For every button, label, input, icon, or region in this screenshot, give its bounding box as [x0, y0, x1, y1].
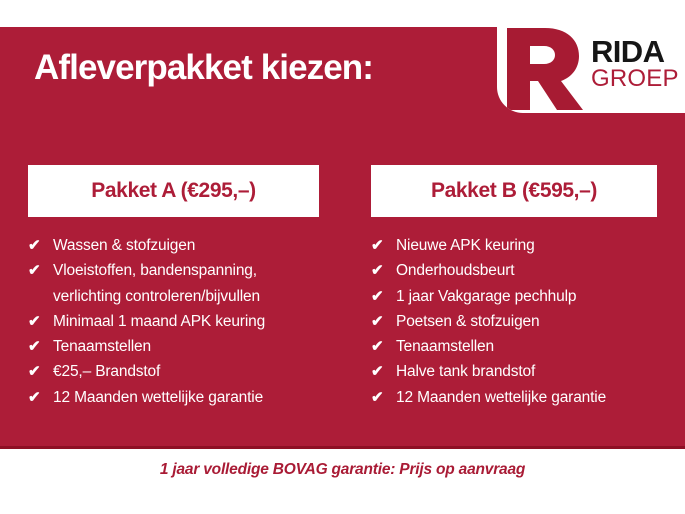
list-item: ✔ Poetsen & stofzuigen: [371, 309, 657, 334]
check-icon: ✔: [28, 359, 46, 384]
feature-label: Minimaal 1 maand APK keuring: [53, 309, 319, 334]
brand-wordmark: RIDA GROEP: [591, 36, 683, 92]
check-icon: ✔: [371, 309, 389, 334]
check-icon: ✔: [371, 284, 389, 309]
check-icon: ✔: [371, 233, 389, 258]
brand-name-primary: RIDA: [591, 36, 683, 68]
package-a-title: Pakket A (€295,–): [91, 179, 255, 203]
feature-label: 1 jaar Vakgarage pechhulp: [396, 284, 657, 309]
feature-label: Onderhoudsbeurt: [396, 258, 657, 283]
brand-logo-panel: RIDA GROEP: [497, 22, 685, 113]
package-column-b: Pakket B (€595,–) ✔ Nieuwe APK keuring ✔…: [371, 165, 657, 410]
list-item: ✔ Onderhoudsbeurt: [371, 258, 657, 283]
feature-label: Tenaamstellen: [396, 334, 657, 359]
feature-label: Vloeistoffen, bandenspanning, verlichtin…: [53, 258, 319, 309]
check-icon: ✔: [28, 309, 46, 334]
check-icon: ✔: [28, 334, 46, 359]
list-item: ✔ 1 jaar Vakgarage pechhulp: [371, 284, 657, 309]
footer-bar: 1 jaar volledige BOVAG garantie: Prijs o…: [0, 449, 685, 514]
page-title: Afleverpakket kiezen:: [34, 45, 373, 91]
list-item: ✔ Tenaamstellen: [371, 334, 657, 359]
feature-label: €25,– Brandstof: [53, 359, 319, 384]
footer-guarantee-text: 1 jaar volledige BOVAG garantie: Prijs o…: [160, 461, 525, 479]
feature-label: Halve tank brandstof: [396, 359, 657, 384]
list-item: ✔ 12 Maanden wettelijke garantie: [371, 385, 657, 410]
rida-r-monogram-icon: [505, 26, 589, 112]
feature-label: Wassen & stofzuigen: [53, 233, 319, 258]
brand-name-secondary: GROEP: [591, 66, 683, 92]
check-icon: ✔: [28, 233, 46, 258]
check-icon: ✔: [371, 359, 389, 384]
package-b-feature-list: ✔ Nieuwe APK keuring ✔ Onderhoudsbeurt ✔…: [371, 233, 657, 410]
package-column-a: Pakket A (€295,–) ✔ Wassen & stofzuigen …: [28, 165, 319, 410]
list-item: ✔ Tenaamstellen: [28, 334, 319, 359]
package-a-header: Pakket A (€295,–): [28, 165, 319, 217]
feature-label: Nieuwe APK keuring: [396, 233, 657, 258]
feature-label: Poetsen & stofzuigen: [396, 309, 657, 334]
feature-label: Tenaamstellen: [53, 334, 319, 359]
list-item: ✔ Wassen & stofzuigen: [28, 233, 319, 258]
feature-label: 12 Maanden wettelijke garantie: [396, 385, 657, 410]
package-b-header: Pakket B (€595,–): [371, 165, 657, 217]
list-item: ✔ Vloeistoffen, bandenspanning, verlicht…: [28, 258, 319, 309]
check-icon: ✔: [28, 385, 46, 410]
list-item: ✔ Halve tank brandstof: [371, 359, 657, 384]
afleverpakket-banner: Afleverpakket kiezen: RIDA GROEP Pakket …: [0, 0, 685, 514]
list-item: ✔ Nieuwe APK keuring: [371, 233, 657, 258]
check-icon: ✔: [28, 258, 46, 283]
check-icon: ✔: [371, 334, 389, 359]
package-b-title: Pakket B (€595,–): [431, 179, 597, 203]
check-icon: ✔: [371, 385, 389, 410]
feature-label: 12 Maanden wettelijke garantie: [53, 385, 319, 410]
list-item: ✔ €25,– Brandstof: [28, 359, 319, 384]
list-item: ✔ Minimaal 1 maand APK keuring: [28, 309, 319, 334]
check-icon: ✔: [371, 258, 389, 283]
list-item: ✔ 12 Maanden wettelijke garantie: [28, 385, 319, 410]
package-a-feature-list: ✔ Wassen & stofzuigen ✔ Vloeistoffen, ba…: [28, 233, 319, 410]
